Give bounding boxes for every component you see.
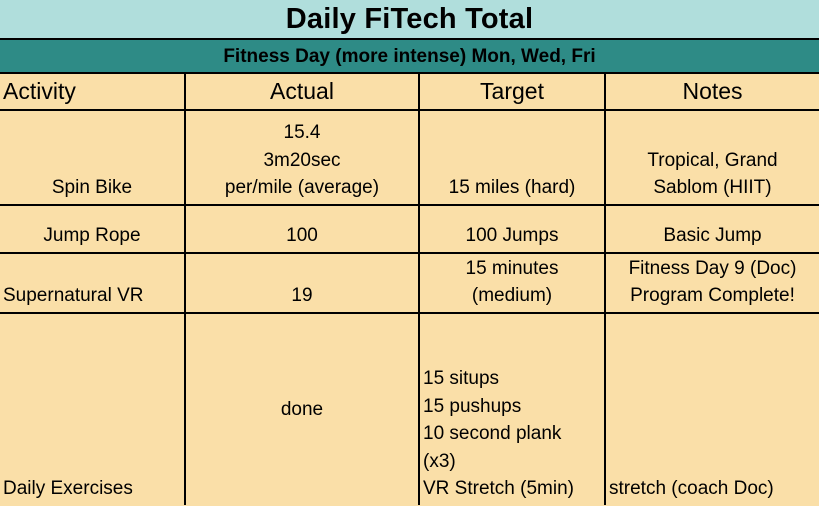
column-header-activity: Activity	[0, 74, 185, 110]
cell-notes: Fitness Day 9 (Doc)Program Complete!	[605, 253, 819, 313]
column-header-actual: Actual	[185, 74, 419, 110]
cell-text-line: 15.4	[190, 119, 414, 147]
cell-target: 15 situps15 pushups10 second plank(x3)VR…	[419, 313, 605, 505]
cell-actual: 19	[185, 253, 419, 313]
cell-text-line: 15 situps	[423, 365, 600, 393]
cell-notes: stretch (coach Doc)	[605, 313, 819, 505]
page-subtitle: Fitness Day (more intense) Mon, Wed, Fri	[223, 47, 595, 66]
cell-text-line: (medium)	[424, 282, 600, 310]
activity-table: Activity Actual Target Notes Spin Bike 1…	[0, 74, 819, 505]
table-header-row: Activity Actual Target Notes	[0, 74, 819, 110]
cell-actual: 100	[185, 205, 419, 253]
cell-text-line: 100 Jumps	[424, 222, 600, 250]
cell-text-line: 15 pushups	[423, 393, 600, 421]
cell-target: 15 minutes(medium)	[419, 253, 605, 313]
cell-text-line: Fitness Day 9 (Doc)	[610, 255, 815, 283]
column-header-notes: Notes	[605, 74, 819, 110]
cell-text-line: Basic Jump	[610, 222, 815, 250]
table-row: Spin Bike 15.43m20secper/mile (average) …	[0, 110, 819, 205]
cell-activity: Supernatural VR	[0, 253, 185, 313]
cell-target: 15 miles (hard)	[419, 110, 605, 205]
cell-notes: Basic Jump	[605, 205, 819, 253]
cell-actual: 15.43m20secper/mile (average)	[185, 110, 419, 205]
cell-text-line: 3m20sec	[190, 147, 414, 175]
cell-actual: done	[185, 313, 419, 505]
cell-text-line: stretch (coach Doc)	[609, 475, 815, 503]
cell-text-line: 15 minutes	[424, 255, 600, 283]
cell-notes: Tropical, GrandSablom (HIIT)	[605, 110, 819, 205]
cell-activity: Jump Rope	[0, 205, 185, 253]
cell-activity: Spin Bike	[0, 110, 185, 205]
title-band: Daily FiTech Total	[0, 0, 819, 40]
cell-text-line: 100	[190, 222, 414, 250]
daily-fitech-total-table-document: Daily FiTech Total Fitness Day (more int…	[0, 0, 819, 506]
table-row: Supernatural VR 19 15 minutes(medium) Fi…	[0, 253, 819, 313]
table-body: Spin Bike 15.43m20secper/mile (average) …	[0, 110, 819, 505]
cell-text-line: 15 miles (hard)	[424, 174, 600, 202]
table-row: Daily Exercises done 15 situps15 pushups…	[0, 313, 819, 505]
page-title: Daily FiTech Total	[286, 5, 533, 34]
cell-text-line: done	[190, 396, 414, 424]
cell-text-line: VR Stretch (5min)	[423, 475, 600, 503]
cell-activity: Daily Exercises	[0, 313, 185, 505]
cell-text-line: Tropical, Grand	[610, 147, 815, 175]
cell-target: 100 Jumps	[419, 205, 605, 253]
cell-text-line: per/mile (average)	[190, 174, 414, 202]
column-header-target: Target	[419, 74, 605, 110]
cell-text-line: (x3)	[423, 448, 600, 476]
cell-text-line: 10 second plank	[423, 420, 600, 448]
table-row: Jump Rope 100 100 Jumps Basic Jump	[0, 205, 819, 253]
cell-text-line: Program Complete!	[610, 282, 815, 310]
cell-text-line: 19	[190, 282, 414, 310]
cell-text-line: Sablom (HIIT)	[610, 174, 815, 202]
subtitle-band: Fitness Day (more intense) Mon, Wed, Fri	[0, 40, 819, 74]
